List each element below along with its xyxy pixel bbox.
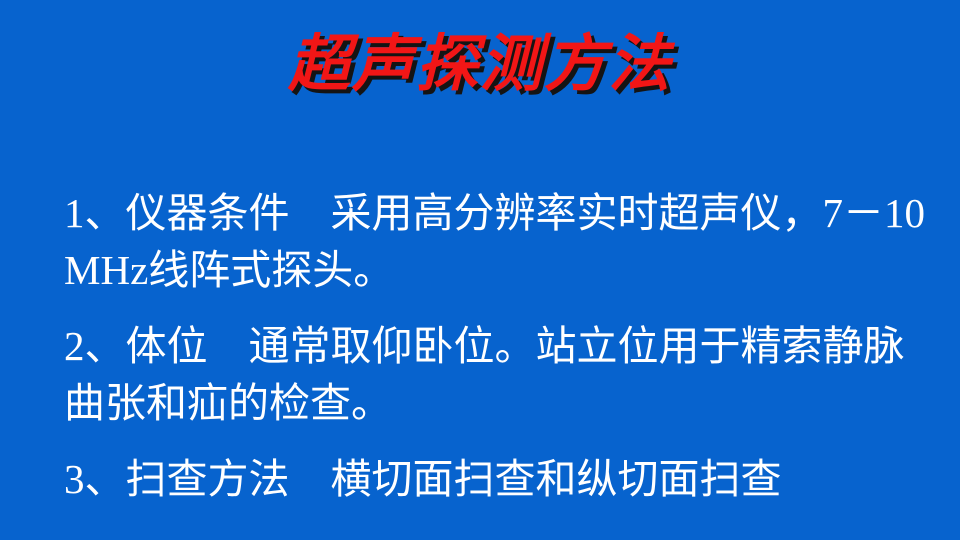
body-paragraph-2: 2、体位 通常取仰卧位。站立位用于精索静脉曲张和疝的检查。: [64, 318, 944, 432]
body-paragraph-1: 1、仪器条件 采用高分辨率实时超声仪，7－10MHz线阵式探头。: [64, 185, 944, 299]
body-paragraph-3: 3、扫查方法 横切面扫查和纵切面扫查: [64, 451, 944, 508]
page-title: 超声探测方法: [0, 34, 960, 96]
slide-body: 1、仪器条件 采用高分辨率实时超声仪，7－10MHz线阵式探头。 2、体位 通常…: [64, 185, 944, 508]
presentation-slide: 超声探测方法 1、仪器条件 采用高分辨率实时超声仪，7－10MHz线阵式探头。 …: [0, 0, 960, 540]
